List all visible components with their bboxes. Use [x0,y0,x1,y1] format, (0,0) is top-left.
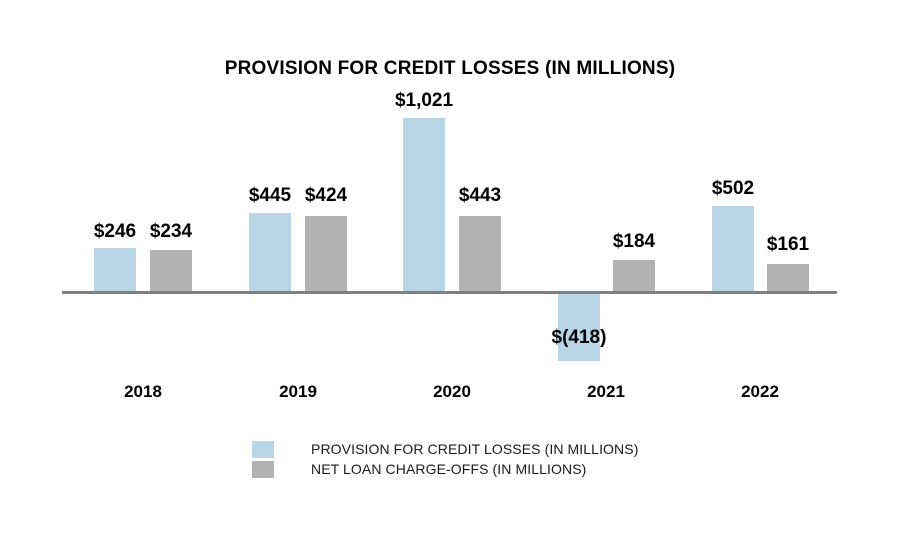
x-axis-label-2019: 2019 [238,382,358,402]
legend-label-provision: PROVISION FOR CREDIT LOSSES (IN MILLIONS… [311,441,638,457]
bar-value-provision-2021: $(418) [519,327,639,349]
chart-legend: PROVISION FOR CREDIT LOSSES (IN MILLIONS… [252,440,638,480]
bar-provision-2018[interactable] [94,248,136,292]
bar-value-provision-2020: $1,021 [364,90,484,112]
bar-chargeoff-2019[interactable] [305,216,347,292]
bar-value-chargeoff-2018: $234 [111,221,231,243]
bar-chargeoff-2020[interactable] [459,216,501,292]
bar-chargeoff-2021[interactable] [613,260,655,292]
bar-value-chargeoff-2022: $161 [728,234,848,256]
legend-swatch-provision-icon [252,441,274,458]
zero-axis-line [62,291,837,294]
x-axis-label-2020: 2020 [392,382,512,402]
bar-value-provision-2022: $502 [673,178,793,200]
x-axis-label-2021: 2021 [546,382,666,402]
bar-value-chargeoff-2021: $184 [574,231,694,253]
plot-area: $246 $234 $445 $424 $1,021 $443 $(418) $… [0,0,900,420]
legend-item-provision[interactable]: PROVISION FOR CREDIT LOSSES (IN MILLIONS… [252,440,638,458]
legend-item-chargeoff[interactable]: NET LOAN CHARGE-OFFS (IN MILLIONS) [252,460,638,478]
chart-container: PROVISION FOR CREDIT LOSSES (IN MILLIONS… [0,0,900,550]
legend-swatch-chargeoff-icon [252,461,274,478]
bar-value-chargeoff-2019: $424 [266,185,386,207]
x-axis-label-2018: 2018 [83,382,203,402]
bar-chargeoff-2018[interactable] [150,250,192,292]
x-axis-label-2022: 2022 [700,382,820,402]
bar-chargeoff-2022[interactable] [767,264,809,292]
bar-value-chargeoff-2020: $443 [420,185,540,207]
bar-provision-2019[interactable] [249,213,291,292]
legend-label-chargeoff: NET LOAN CHARGE-OFFS (IN MILLIONS) [311,461,586,477]
